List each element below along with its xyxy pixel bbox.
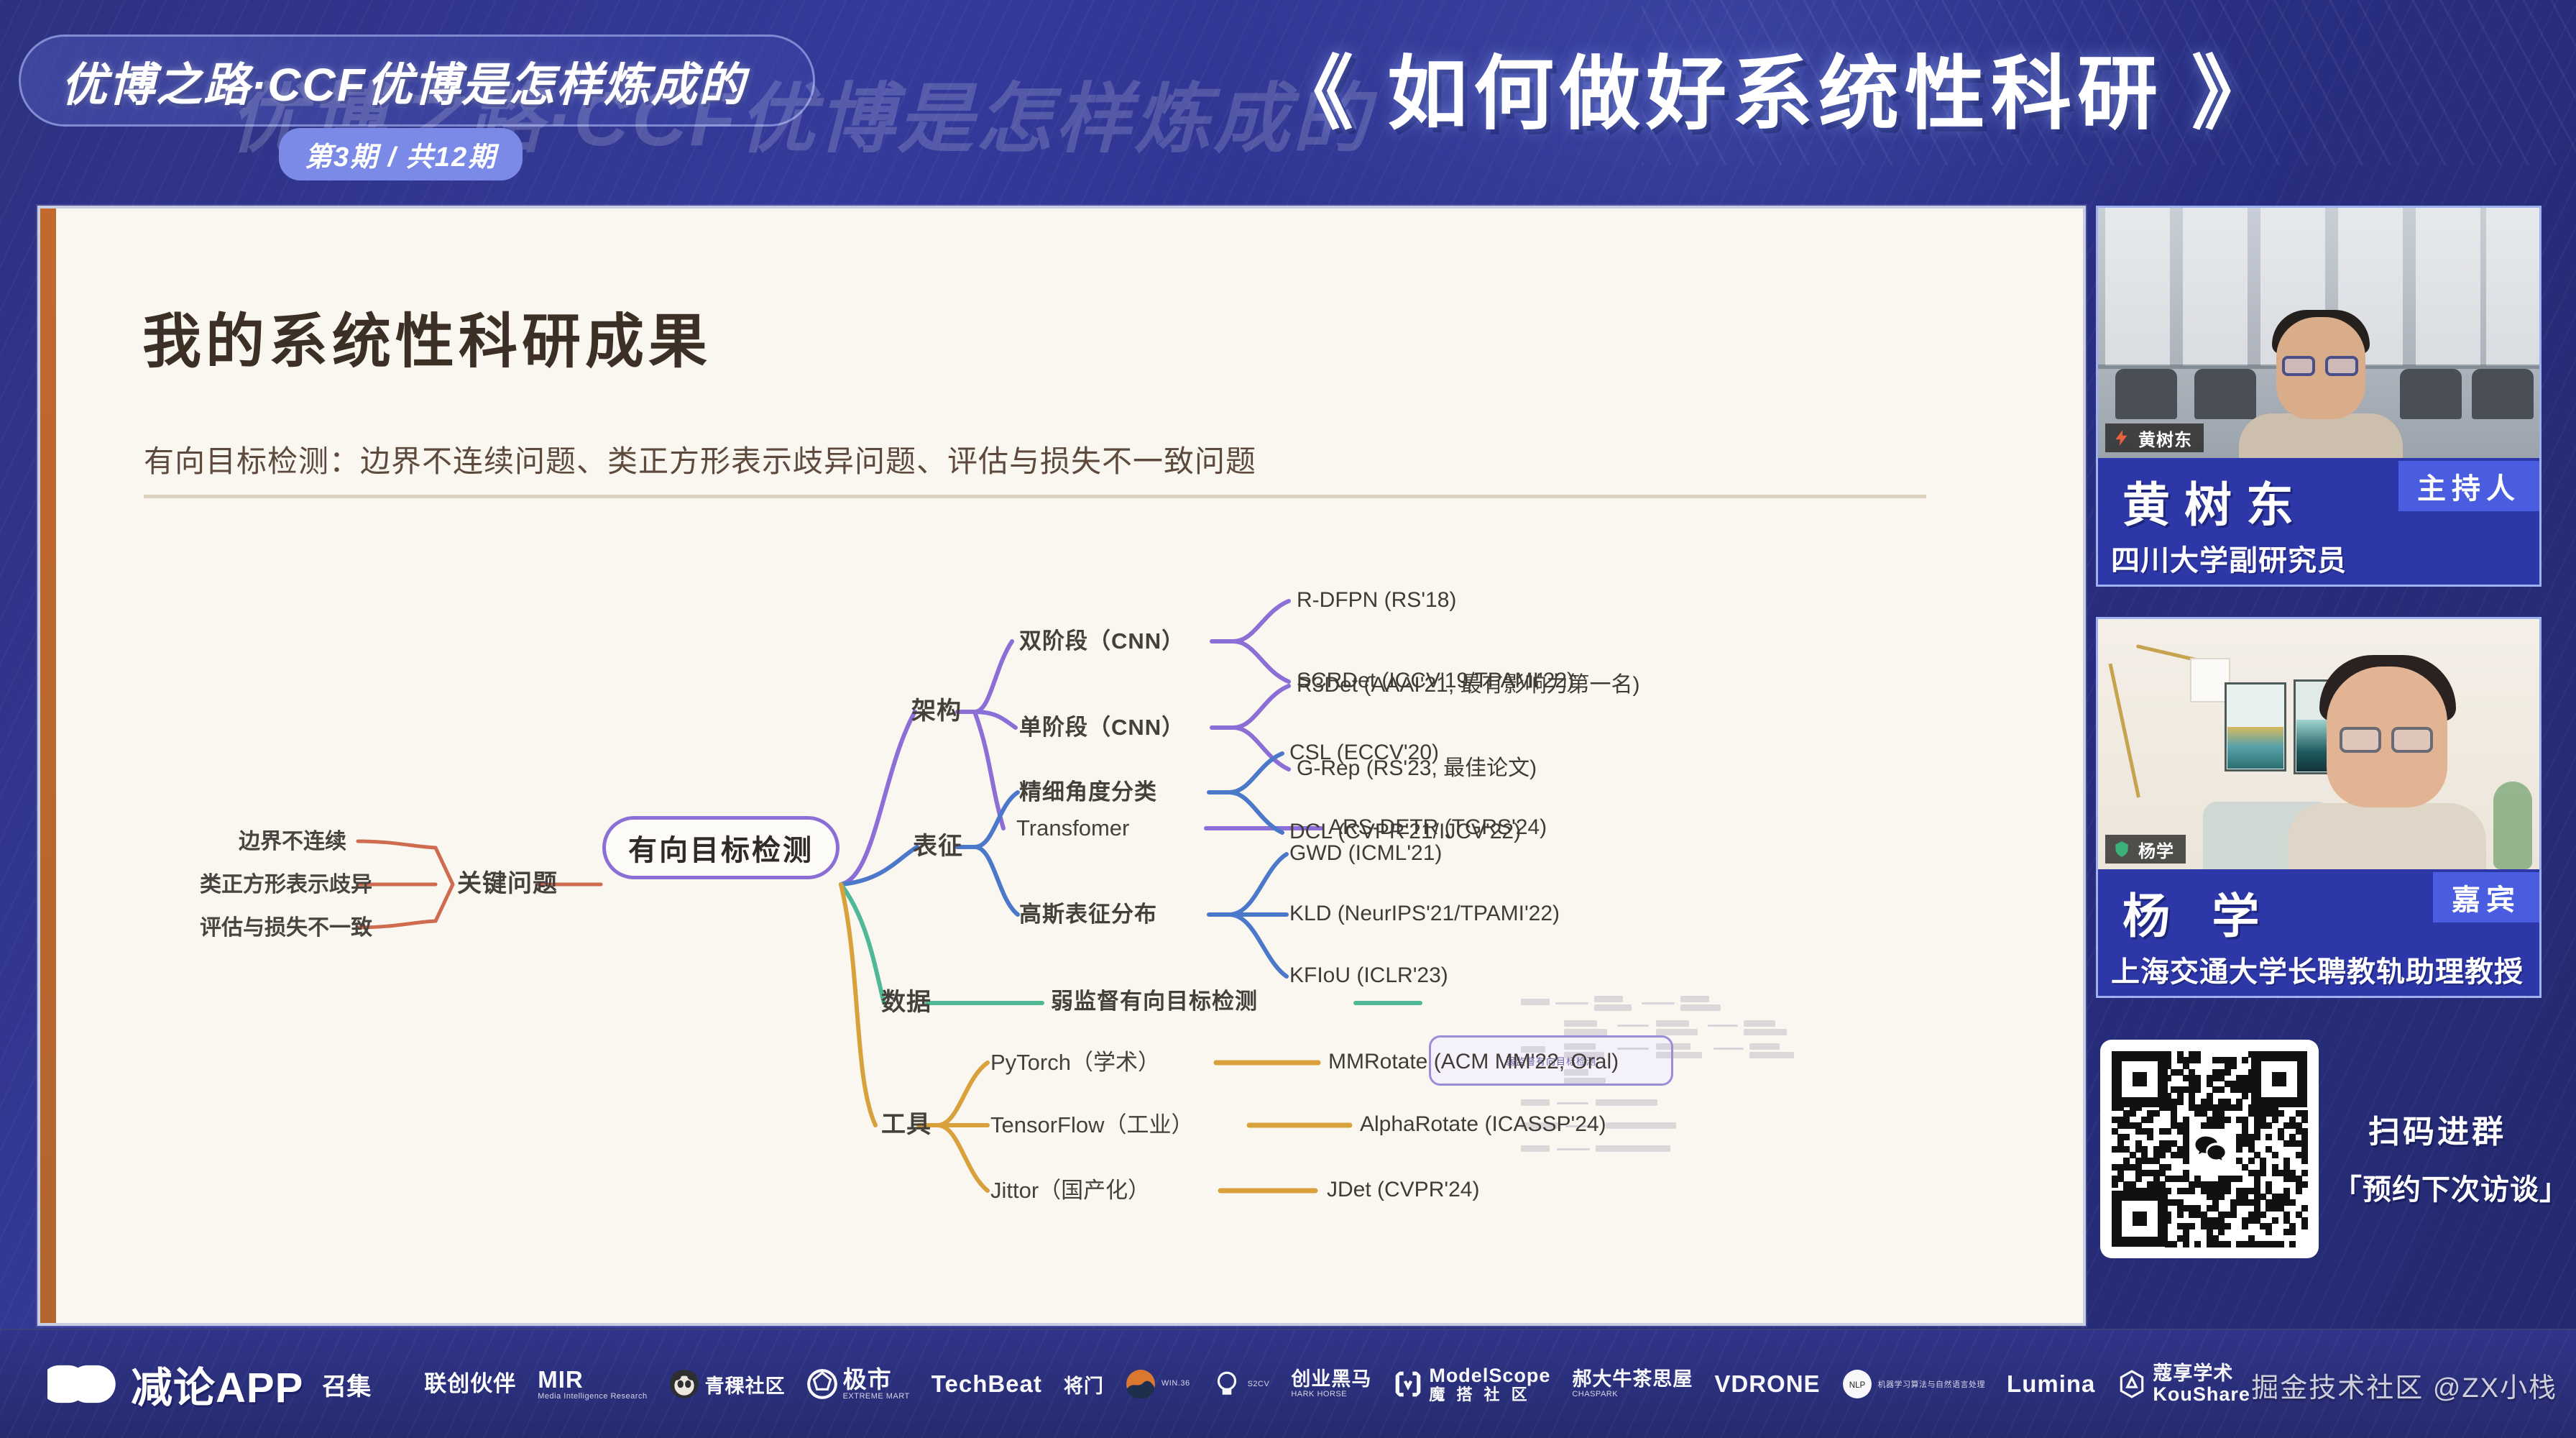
nlp-icon: NLP [1842,1369,1872,1399]
mindmap-center-node: 有向目标检测 [602,816,839,879]
sponsor-name-qingke: 青稞社区 [705,1370,786,1398]
brand-call-label: 召集 [322,1367,371,1402]
sponsor-name-lumina: Lumina [2007,1370,2095,1398]
mindmap: 边界不连续 类正方形表示歧异 评估与损失不一致 关键问题 有向目标检测 架构 表… [56,209,2083,1323]
brand-logo[interactable]: 减论APP 召集 [47,1354,371,1414]
sponsor-logo-list: MIR Media Intelligence Research 青稞社区 极市 [538,1363,2250,1405]
leaf-mmrotate: MMRotate (ACM MM'22, Oral) [1328,1051,1619,1073]
qr-code[interactable] [2100,1040,2319,1258]
sponsor-sub-heima: HARK HORSE [1291,1391,1371,1399]
video-name-tag-guest: 杨学 [2105,835,2186,864]
branch-label-tools: 工具 [881,1112,931,1137]
branch-label-data: 数据 [881,990,931,1015]
problem-node-1: 类正方形表示歧异 [200,874,372,896]
participant-name-host: 黄树东 [2122,467,2308,536]
aperture-icon [807,1369,837,1399]
qr-grid [2112,1051,2307,1247]
leaf-dcl: DCL (CVPR'21/IJCV'22) [1289,821,1521,843]
jianlun-mark-icon [47,1362,118,1406]
panda-icon [669,1369,699,1399]
subbranch-gaussian-distribution: 高斯表征分布 [1019,903,1157,925]
sponsor-name-vdrone: VDRONE [1714,1370,1820,1398]
sponsor-sub-modelscope: 魔 搭 社 区 [1429,1386,1550,1403]
sponsor-logo-techbeat[interactable]: TechBeat [931,1370,1042,1398]
sponsor-name-heima: 创业黑马 [1291,1369,1371,1390]
sponsor-logo-s2cv[interactable]: S2CV [1212,1369,1270,1399]
mini-mindmap-thumbnail [1515,996,1824,1161]
braces-icon [1393,1369,1423,1399]
sponsor-name-win36: WIN.36 [1161,1380,1190,1388]
leaf-r-dfpn: R-DFPN (RS'18) [1297,590,1456,611]
sponsor-logo-chaspark[interactable]: 郝大牛茶思屋 CHASPARK [1572,1369,1693,1398]
branch-label-representation: 表征 [913,834,963,858]
leaf-alpharotate: AlphaRotate (ICASSP'24) [1360,1114,1606,1135]
right-rail: 黄树东 黄树东 主持人 四川大学副研究员 [2096,206,2541,1326]
series-badge-label: 优博之路·CCF优博是怎样炼成的 [61,47,787,116]
lightning-icon [2112,429,2131,447]
leaf-gwd: GWD (ICML'21) [1289,843,1442,864]
episode-pill: 第3期 / 共12期 [279,128,523,180]
sponsor-name-modelscope: ModelScope [1429,1365,1550,1386]
video-name-tag-host: 黄树东 [2105,423,2204,452]
participant-info-host: 黄树东 主持人 四川大学副研究员 [2098,458,2539,587]
page-title: 《 如何做好系统性科研 》 [992,33,2559,141]
sponsor-sub-koushare: KouShare [2153,1384,2250,1405]
sponsor-logo-lumina[interactable]: Lumina [2007,1370,2095,1398]
sponsor-name-mir: MIR [538,1367,647,1393]
svg-text:NLP: NLP [1849,1381,1865,1390]
leaf-jdet: JDet (CVPR'24) [1327,1179,1479,1201]
leaf-r3det: R3Det (AAAI'21, 最有影响力第一名) [1297,674,1639,696]
sponsor-name-extrememart: 极市 [843,1367,910,1393]
sponsor-logo-heima[interactable]: 创业黑马 HARK HORSE [1291,1369,1371,1398]
slide-frame: 我的系统性科研成果 有向目标检测：边界不连续问题、类正方形表示歧异问题、评估与损… [37,206,2086,1326]
leaf-kld: KLD (NeurIPS'21/TPAMI'22) [1289,903,1560,925]
sponsor-logo-win36[interactable]: WIN.36 [1126,1369,1190,1399]
qr-caption: 扫码进群 「预约下次访谈」 [2333,1106,2541,1208]
problem-node-2: 评估与损失不一致 [200,917,372,939]
hex-icon [2117,1369,2147,1399]
partner-label-line2: 伙伴 [470,1373,516,1396]
participant-name-guest: 杨 学 [2122,878,2273,947]
video-tile-guest[interactable]: 杨学 [2098,619,2539,869]
watermark: 掘金技术社区 @ZX小栈 [2251,1365,2557,1405]
video-tile-host[interactable]: 黄树东 [2098,208,2539,458]
sponsor-name-koushare: 蔻享学术 [2153,1363,2250,1384]
sponsor-logo-vdrone[interactable]: VDRONE [1714,1370,1820,1398]
header-bar: 优博之路·CCF优博是怎样炼成的 优博之路·CCF优博是怎样炼成的 第3期 / … [0,0,2576,180]
partner-label-line1: 联创 [424,1373,470,1396]
subbranch-one-stage: 单阶段（CNN） [1019,716,1184,738]
video-name-tag-guest-label: 杨学 [2138,837,2174,862]
shield-icon [2112,840,2131,858]
problem-node-0: 边界不连续 [239,831,346,853]
sponsor-sub-mir: Media Intelligence Research [538,1393,647,1401]
sponsor-footer: 减论APP 召集 联创 伙伴 MIR Media Intelligence Re… [0,1329,2576,1438]
subbranch-jittor: Jittor（国产化） [990,1179,1150,1201]
sponsor-logo-mlnlp[interactable]: NLP 机器学习算法与自然语言处理 [1842,1369,1986,1399]
sponsor-logo-mir[interactable]: MIR Media Intelligence Research [538,1367,647,1401]
participant-badge-guest: 嘉宾 [2433,872,2539,922]
partner-label: 联创 伙伴 [424,1373,516,1396]
participant-affiliation-guest: 上海交通大学长聘教轨助理教授 [2111,948,2524,990]
leaf-csl: CSL (ECCV'20) [1289,742,1439,764]
video-name-tag-host-label: 黄树东 [2138,426,2192,451]
subbranch-two-stage: 双阶段（CNN） [1019,630,1184,652]
leaf-kfiou: KFIoU (ICLR'23) [1289,965,1448,986]
qr-caption-line2: 「预约下次访谈」 [2333,1166,2541,1208]
subbranch-tensorflow: TensorFlow（工业） [990,1114,1194,1136]
qr-block: 扫码进群 「预约下次访谈」 [2096,1025,2541,1326]
series-badge: 优博之路·CCF优博是怎样炼成的 优博之路·CCF优博是怎样炼成的 [19,35,815,127]
sponsor-logo-modelscope[interactable]: ModelScope 魔 搭 社 区 [1393,1365,1550,1403]
sponsor-name-chaspark: 郝大牛茶思屋 [1572,1369,1693,1390]
branch-label-architecture: 架构 [911,699,962,723]
lion-icon [1212,1369,1242,1399]
wechat-icon [2183,1122,2236,1176]
key-problems-node: 关键问题 [457,871,558,896]
participant-card-guest[interactable]: 杨学 杨 学 嘉宾 上海交通大学长聘教轨助理教授 [2096,617,2541,998]
brand-name: 减论APP [131,1354,303,1414]
sponsor-name-techbeat: TechBeat [931,1370,1042,1398]
sponsor-name-mlnlp: 机器学习算法与自然语言处理 [1878,1378,1986,1390]
subbranch-angle-classification: 精细角度分类 [1019,781,1157,803]
slide-accent-bar [40,209,56,1323]
slide-canvas: 我的系统性科研成果 有向目标检测：边界不连续问题、类正方形表示歧异问题、评估与损… [56,209,2083,1323]
sponsor-logo-jiangmen[interactable]: 将门 [1064,1370,1104,1398]
participant-affiliation-host: 四川大学副研究员 [2111,537,2347,579]
qr-caption-line1: 扫码进群 [2333,1106,2541,1152]
participant-info-guest: 杨 学 嘉宾 上海交通大学长聘教轨助理教授 [2098,869,2539,998]
sponsor-sub-chaspark: CHASPARK [1572,1391,1693,1399]
sponsor-sub-extrememart: EXTREME MART [843,1393,910,1401]
sponsor-name-jiangmen: 将门 [1064,1370,1104,1398]
subbranch-transformer: Transfomer [1016,817,1129,839]
participant-badge-host: 主持人 [2398,461,2539,511]
paw-icon [1126,1369,1156,1399]
subbranch-pytorch: PyTorch（学术） [990,1051,1160,1073]
sponsor-logo-koushare[interactable]: 蔻享学术 KouShare [2117,1363,2250,1405]
sponsor-logo-extrememart[interactable]: 极市 EXTREME MART [807,1367,910,1401]
sponsor-name-s2cv: S2CV [1248,1380,1270,1388]
sponsor-logo-qingke[interactable]: 青稞社区 [669,1369,786,1399]
subbranch-weakly-supervised: 弱监督有向目标检测 [1051,990,1258,1012]
participant-card-host[interactable]: 黄树东 黄树东 主持人 四川大学副研究员 [2096,206,2541,587]
